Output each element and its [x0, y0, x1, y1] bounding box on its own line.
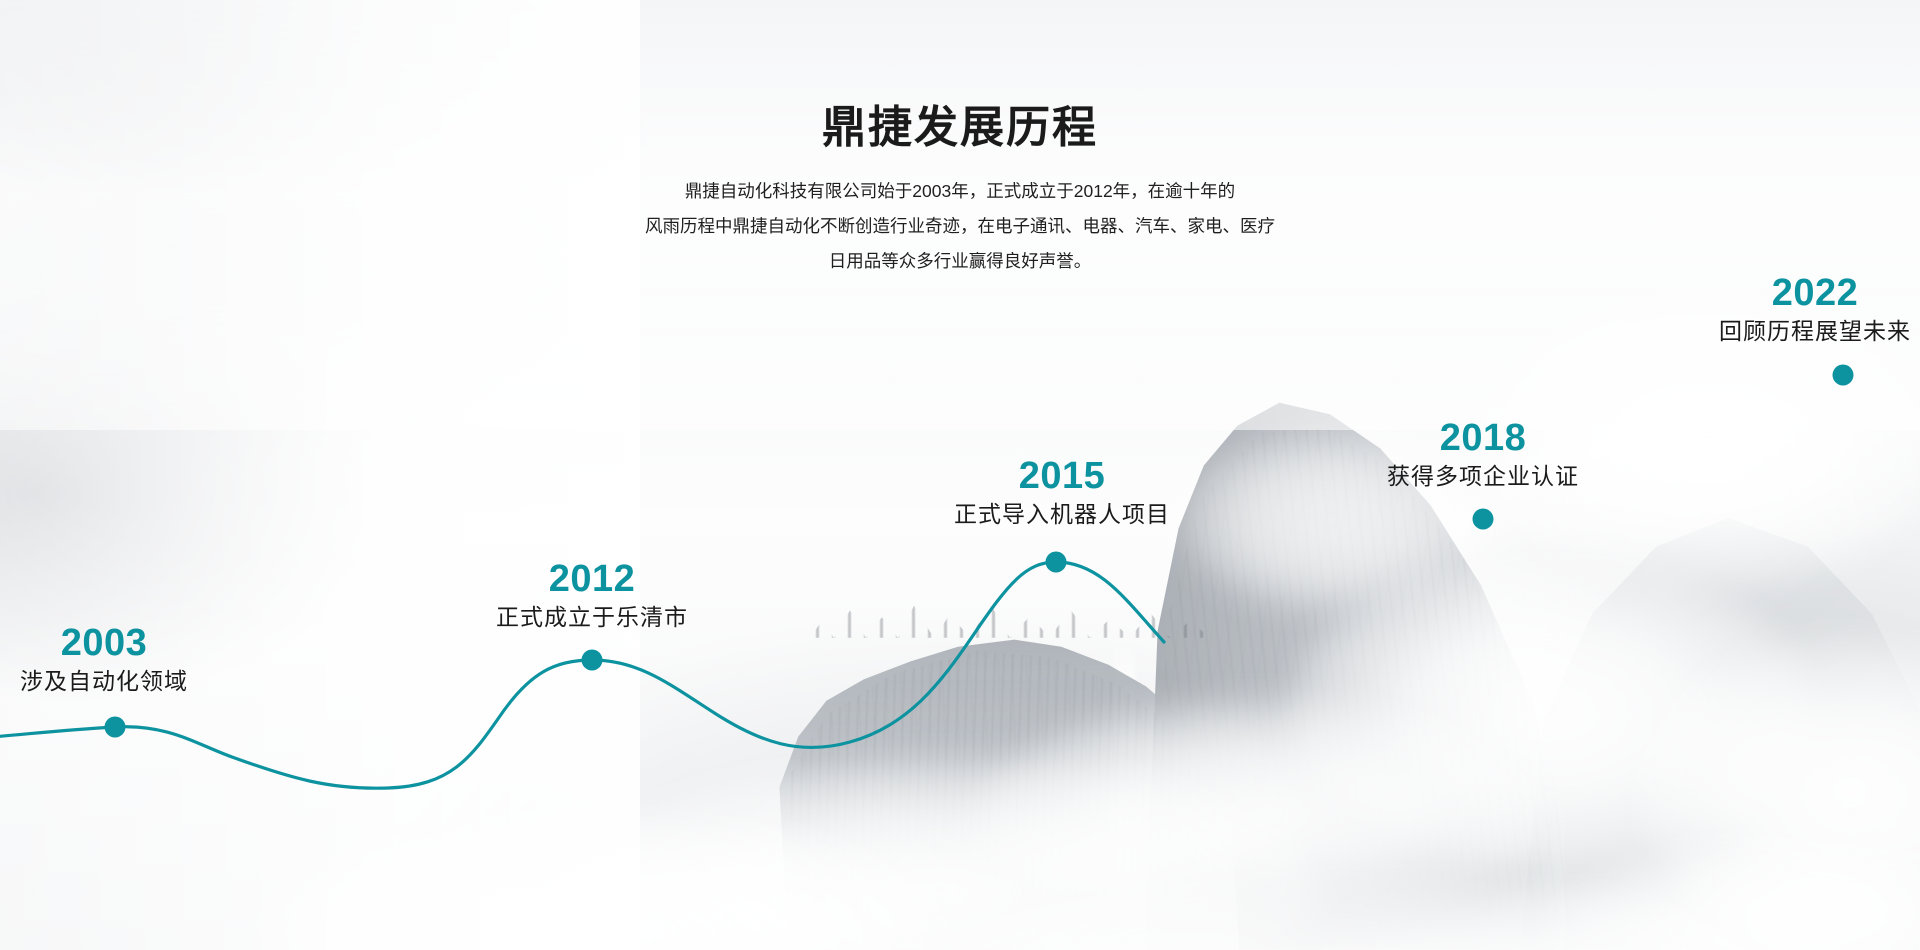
milestone-year-2012: 2012 [496, 558, 688, 601]
header: 鼎捷发展历程 鼎捷自动化科技有限公司始于2003年，正式成立于2012年，在逾十… [0, 0, 1920, 279]
timeline-dot-2022[interactable] [1833, 365, 1854, 386]
milestone-desc-2003: 涉及自动化领域 [20, 667, 188, 697]
milestone-year-2015: 2015 [954, 455, 1170, 498]
timeline-infographic: 鼎捷发展历程 鼎捷自动化科技有限公司始于2003年，正式成立于2012年，在逾十… [0, 0, 1920, 950]
subtitle-line-1: 鼎捷自动化科技有限公司始于2003年，正式成立于2012年，在逾十年的 [580, 174, 1340, 209]
page-subtitle: 鼎捷自动化科技有限公司始于2003年，正式成立于2012年，在逾十年的 风雨历程… [580, 174, 1340, 279]
timeline-dot-2003[interactable] [105, 717, 126, 738]
milestone-desc-2012: 正式成立于乐清市 [496, 603, 688, 633]
milestone-2012[interactable]: 2012正式成立于乐清市 [496, 558, 688, 632]
timeline-dot-2012[interactable] [582, 650, 603, 671]
timeline-dot-2015[interactable] [1046, 552, 1067, 573]
subtitle-line-2: 风雨历程中鼎捷自动化不断创造行业奇迹，在电子通讯、电器、汽车、家电、医疗 [580, 209, 1340, 244]
milestone-year-2003: 2003 [20, 622, 188, 665]
milestone-desc-2015: 正式导入机器人项目 [954, 500, 1170, 530]
page-title: 鼎捷发展历程 [0, 0, 1920, 152]
milestone-2022[interactable]: 2022回顾历程展望未来 [1719, 272, 1911, 346]
milestone-year-2018: 2018 [1387, 417, 1579, 460]
subtitle-line-3: 日用品等众多行业赢得良好声誉。 [580, 244, 1340, 279]
milestone-desc-2018: 获得多项企业认证 [1387, 462, 1579, 492]
milestone-2018[interactable]: 2018获得多项企业认证 [1387, 417, 1579, 491]
milestone-desc-2022: 回顾历程展望未来 [1719, 317, 1911, 347]
timeline-dot-2018[interactable] [1473, 509, 1494, 530]
milestone-2003[interactable]: 2003涉及自动化领域 [20, 622, 188, 696]
milestone-2015[interactable]: 2015正式导入机器人项目 [954, 455, 1170, 529]
